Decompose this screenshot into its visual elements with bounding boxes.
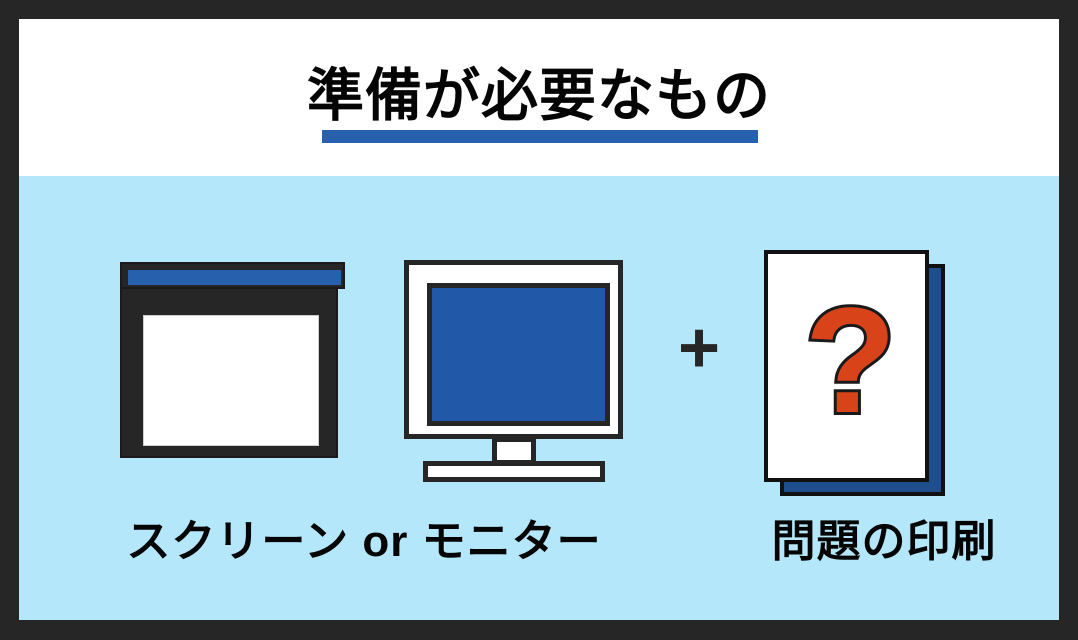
page-title: 準備が必要なもの (19, 65, 1059, 127)
projector-top-bar-accent (128, 270, 341, 285)
caption-screen-or-monitor: スクリーン or モニター (19, 516, 709, 568)
items-row: + ? スクリーン or モニター 問題の印刷 (19, 176, 1059, 620)
monitor-icon (404, 260, 623, 482)
projector-top-bar (120, 262, 345, 289)
document-front-page: ? (764, 250, 929, 482)
title-underline (322, 130, 758, 143)
question-mark-glyph: ? (768, 270, 933, 450)
body-band: + ? スクリーン or モニター 問題の印刷 (19, 176, 1059, 620)
question-document-icon: ? (764, 250, 954, 500)
monitor-bezel (404, 260, 623, 439)
slide-frame: 準備が必要なもの (0, 0, 1078, 640)
plus-separator-icon: + (664, 313, 734, 383)
slide-canvas: 準備が必要なもの (19, 19, 1059, 620)
header-band: 準備が必要なもの (19, 19, 1059, 176)
projector-canvas (143, 315, 319, 446)
monitor-base (423, 461, 605, 482)
caption-problem-printout: 問題の印刷 (709, 516, 1059, 568)
monitor-display (427, 283, 610, 426)
projector-screen-icon (120, 262, 345, 458)
